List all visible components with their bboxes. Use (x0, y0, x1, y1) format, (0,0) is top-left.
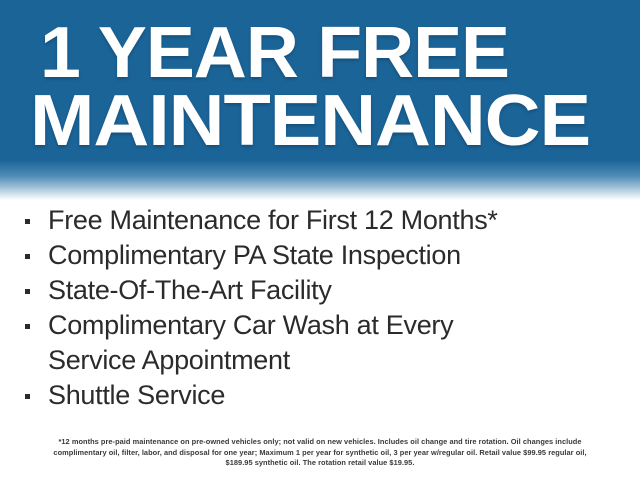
square-bullet-icon (25, 254, 30, 259)
list-item-label: State-Of-The-Art Facility (48, 273, 332, 308)
list-item: Free Maintenance for First 12 Months* (0, 203, 640, 238)
list-item-label: Service Appointment (48, 343, 290, 378)
list-item-label: Complimentary Car Wash at Every (48, 308, 453, 343)
square-bullet-icon (25, 219, 30, 224)
headline-line-2: MAINTENANCE (30, 85, 590, 157)
list-item: Complimentary Car Wash at Every (0, 308, 640, 343)
benefits-list: Free Maintenance for First 12 Months* Co… (0, 203, 640, 413)
list-item-continuation: Service Appointment (0, 343, 640, 378)
header-banner-solid-area: 1 YEAR FREE MAINTENANCE (0, 0, 640, 165)
list-item: Shuttle Service (0, 378, 640, 413)
promotional-flyer: 1 YEAR FREE MAINTENANCE Free Maintenance… (0, 0, 640, 480)
headline-line-1: 1 YEAR FREE (40, 17, 509, 89)
header-banner: 1 YEAR FREE MAINTENANCE (0, 0, 640, 200)
list-item: Complimentary PA State Inspection (0, 238, 640, 273)
disclaimer-text: *12 months pre-paid maintenance on pre-o… (50, 437, 590, 469)
list-item: State-Of-The-Art Facility (0, 273, 640, 308)
list-item-label: Shuttle Service (48, 378, 225, 413)
square-bullet-icon (25, 324, 30, 329)
list-item-label: Complimentary PA State Inspection (48, 238, 461, 273)
square-bullet-icon (25, 289, 30, 294)
square-bullet-icon (25, 394, 30, 399)
list-item-label: Free Maintenance for First 12 Months* (48, 203, 498, 238)
